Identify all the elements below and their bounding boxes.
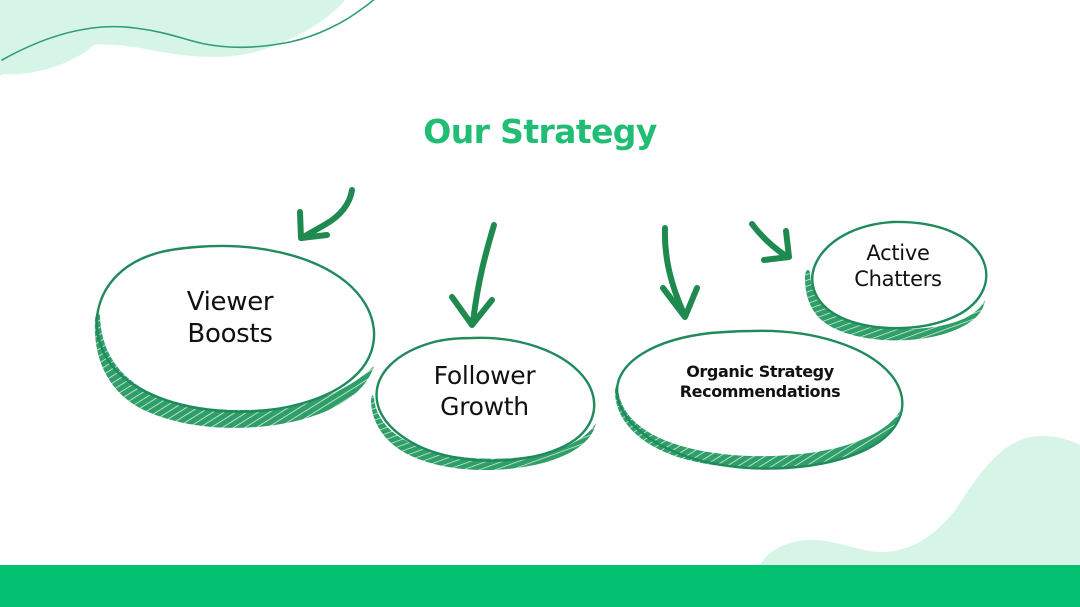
bubble-label-follower-growth: Follower Growth [382,360,587,422]
bubble-label-viewer-boosts: Viewer Boosts [120,286,340,350]
bubble-label-organic-strategy: Organic Strategy Recommendations [640,362,880,402]
bubble-label-active-chatters: Active Chatters [818,240,978,292]
text-layer: Our Strategy Viewer Boosts Follower Grow… [0,0,1080,607]
slide-canvas: Our Strategy Viewer Boosts Follower Grow… [0,0,1080,607]
bottom-green-bar [0,565,1080,607]
page-title: Our Strategy [0,112,1080,151]
